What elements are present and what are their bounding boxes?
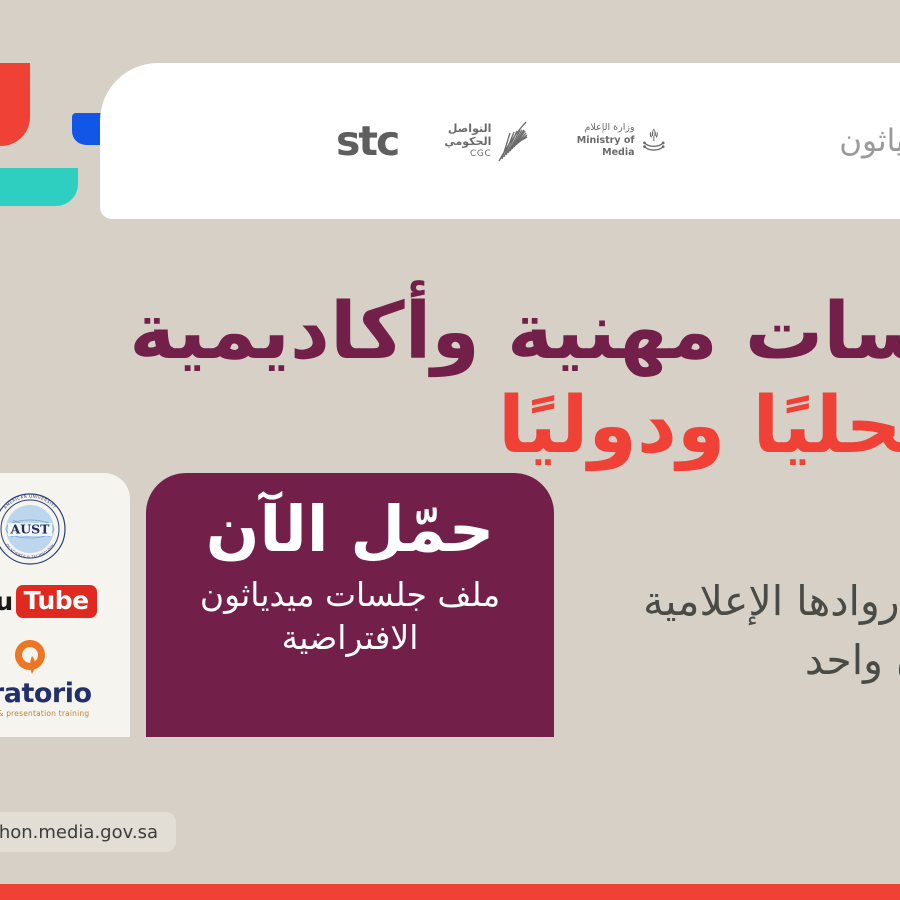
oratorio-logo: Oratorio media & presentation training: [0, 637, 92, 718]
ministry-arabic: وزارة الإعلام: [576, 122, 634, 135]
aust-seal-icon: AUST AMERICAN UNIVERSITY OF SCIENCE & TE…: [0, 492, 67, 566]
stc-logo-text: stc: [336, 121, 398, 162]
decorative-teal-shape: [0, 168, 78, 206]
ministry-of-media-text: وزارة الإعلام Ministry of Media: [576, 122, 634, 160]
oratorio-mark-icon: [10, 637, 50, 677]
youtube-logo: You Tube: [0, 585, 97, 618]
youtube-logo-you: You: [0, 587, 13, 616]
website-url-pill[interactable]: mediathon.media.gov.sa: [0, 812, 176, 852]
partner-logo-panel: AUST AMERICAN UNIVERSITY OF SCIENCE & TE…: [0, 473, 130, 737]
saudi-emblem-icon: [642, 119, 666, 163]
sponsor-logo-row: stc التواصل الحكومي CGC: [336, 119, 900, 163]
download-cta-card[interactable]: حمّل الآن ملف جلسات ميدياثون الافتراضية: [146, 473, 554, 737]
ministry-english: Ministry of Media: [576, 135, 634, 161]
cgc-abbreviation: CGC: [444, 149, 491, 160]
mediathon-arabic: ميدياثون: [839, 126, 900, 157]
ministry-of-media-logo: وزارة الإعلام Ministry of Media: [576, 119, 665, 163]
palm-fan-icon: [496, 119, 530, 163]
cta-title: حمّل الآن: [172, 495, 528, 564]
cta-subtitle: ملف جلسات ميدياثون الافتراضية: [172, 574, 528, 658]
mediathon-logo: ميدياثون MEDIATHON: [839, 126, 900, 157]
cgc-arabic-line2: الحكومي: [444, 135, 491, 149]
cgc-logo: التواصل الحكومي CGC: [444, 119, 530, 163]
youtube-logo-tube: Tube: [16, 585, 97, 618]
website-url-text: mediathon.media.gov.sa: [0, 822, 158, 843]
headline-line-1: جلسات مهنية وأكاديمية: [0, 286, 900, 378]
poster-canvas: stc التواصل الحكومي CGC: [0, 0, 900, 900]
oratorio-tagline: media & presentation training: [0, 710, 92, 718]
stc-logo: stc: [336, 121, 398, 162]
cgc-logo-text: التواصل الحكومي CGC: [444, 122, 491, 161]
oratorio-name: Oratorio: [0, 680, 92, 707]
aust-logo: AUST AMERICAN UNIVERSITY OF SCIENCE & TE…: [0, 492, 67, 566]
svg-text:AUST: AUST: [10, 522, 51, 537]
cgc-arabic-line1: التواصل: [444, 122, 491, 136]
headline-block: جلسات مهنية وأكاديمية محليًا ودوليًا: [0, 286, 900, 472]
decorative-red-shape: [0, 63, 30, 146]
sponsor-logo-bar: stc التواصل الحكومي CGC: [100, 63, 900, 219]
bottom-accent-bar: [0, 884, 900, 900]
headline-line-2: محليًا ودوليًا: [0, 380, 900, 472]
